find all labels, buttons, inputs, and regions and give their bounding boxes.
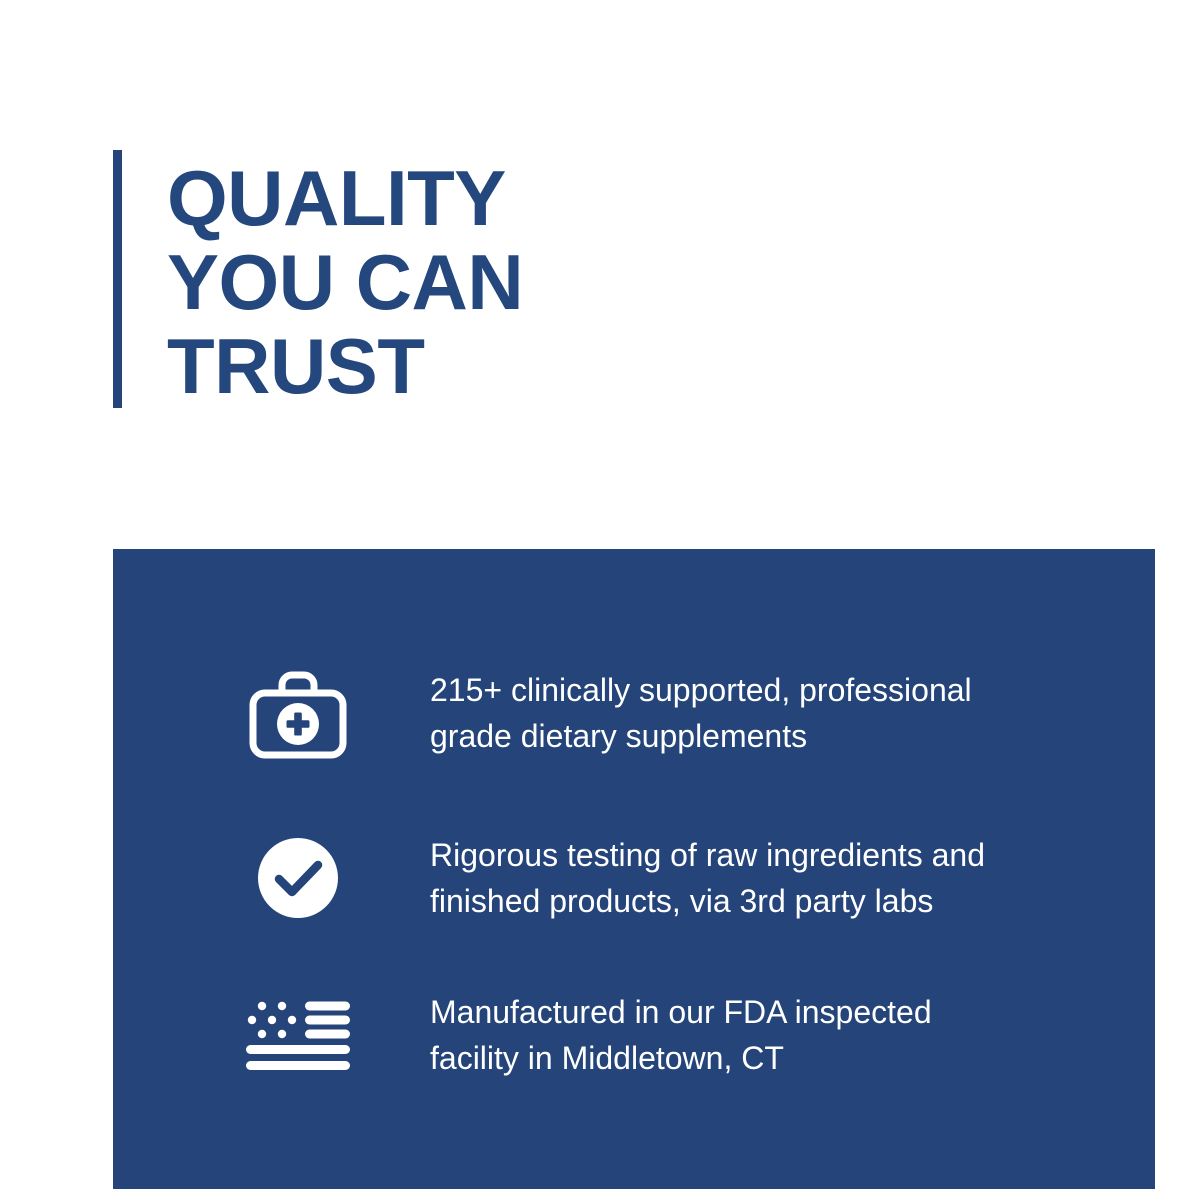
list-item-label: Rigorous testing of raw ingredients and … bbox=[430, 832, 985, 924]
list-item: Manufactured in our FDA inspected facili… bbox=[246, 989, 932, 1081]
page-title: QUALITY YOU CAN TRUST bbox=[167, 150, 523, 408]
first-aid-kit-icon bbox=[246, 667, 350, 761]
headline-accent-rule bbox=[113, 150, 122, 408]
list-item-label: 215+ clinically supported, professional … bbox=[430, 667, 972, 759]
headline-line-2: YOU CAN bbox=[167, 240, 523, 324]
features-panel: 215+ clinically supported, professional … bbox=[113, 549, 1155, 1189]
quality-you-can-trust-graphic: QUALITY YOU CAN TRUST bbox=[0, 0, 1199, 1200]
usa-flag-icon bbox=[246, 989, 350, 1077]
headline-line-3: TRUST bbox=[167, 324, 523, 408]
list-item: Rigorous testing of raw ingredients and … bbox=[246, 832, 985, 924]
headline-line-1: QUALITY bbox=[167, 156, 523, 240]
headline-block: QUALITY YOU CAN TRUST bbox=[113, 150, 523, 408]
list-item: 215+ clinically supported, professional … bbox=[246, 667, 972, 761]
check-circle-icon bbox=[246, 832, 350, 924]
list-item-label: Manufactured in our FDA inspected facili… bbox=[430, 989, 932, 1081]
